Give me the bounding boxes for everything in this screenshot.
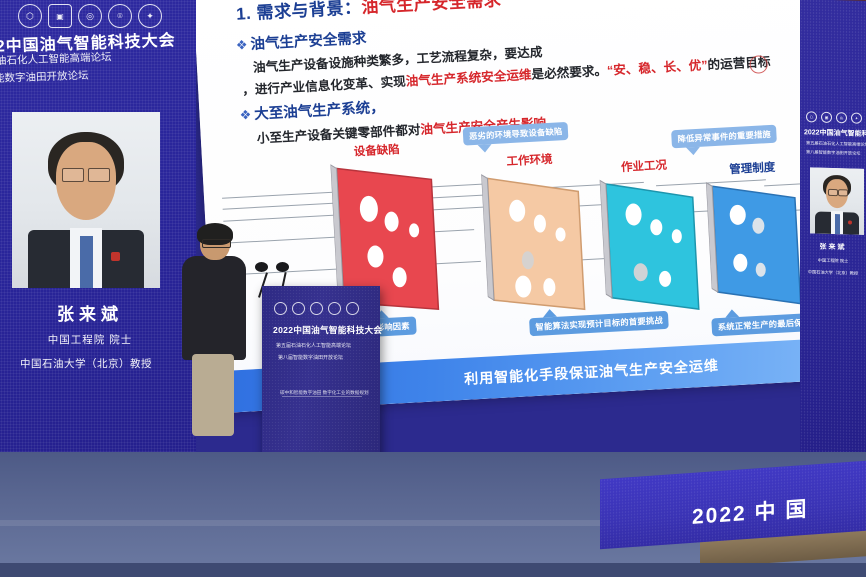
panel-credential-2: 中国石油大学（北京）教授: [0, 356, 184, 371]
barrier-layer-work-environment: [481, 166, 611, 324]
portrait-glasses: [62, 168, 84, 182]
portrait-tie: [80, 236, 93, 288]
barrier-layer-operating-condition: [600, 172, 724, 324]
organizer-logo-icon: ⬡: [806, 111, 817, 122]
speaker-portrait: [12, 112, 160, 288]
podium-divider: [282, 396, 362, 397]
organizer-logo-icon: [346, 302, 359, 315]
slide-title-main: 需求与背景：: [256, 0, 362, 23]
podium-tagline: 碳中和智能数字油田 数字化工业的数据规划: [280, 390, 369, 396]
organizer-logo-icon: ▣: [821, 112, 832, 123]
panel-speaker-name: 张来斌: [800, 241, 866, 253]
barrier-label-work-environment: 工作环境: [506, 151, 553, 169]
panel-speaker-name: 张来斌: [0, 300, 180, 325]
podium-subtitle-1: 第五届石油石化人工智能高端论坛: [276, 342, 351, 349]
panel-logo-row: ⬡ ▣ ◎ ⌾ ✦: [18, 4, 162, 28]
portrait-lapel-pin: [848, 220, 852, 224]
portrait-lapel-pin: [111, 252, 120, 261]
callout-reduce-abnormal-events: 降低异常事件的重要措施: [671, 125, 777, 149]
portrait-tie: [835, 214, 840, 234]
microphone-head: [276, 262, 289, 272]
bullet-diamond-icon: ❖: [235, 37, 247, 53]
barrier-label-operating-condition: 作业工况: [621, 157, 668, 175]
slide-bullet-1: ❖油气生产安全需求: [235, 27, 367, 55]
stage-base-strip: [0, 563, 866, 577]
podium-logo-row: [274, 302, 359, 315]
speaker-portrait-frame: [810, 167, 864, 235]
slide-body-line-2-highlight: 油气生产系统安全运维: [405, 68, 532, 89]
organizer-logo-icon: ⬡: [18, 4, 42, 28]
side-led-panel-right: ⬡ ▣ ◎ ✦ 2022中国油气智能科技大会 第五届石油石化人工智能高端论坛 第…: [800, 0, 866, 471]
portrait-glasses: [88, 168, 110, 182]
slide-bullet-2: ❖大至油气生产系统，: [239, 96, 385, 125]
slide-body-line-2-tail: 是必然要求。: [531, 64, 607, 82]
portrait-glasses: [828, 189, 838, 196]
organizer-logo-icon: ✦: [138, 4, 162, 28]
presenter-legs: [192, 354, 234, 436]
presenter-arm: [184, 286, 200, 344]
slide-title-accent: 油气生产安全需求: [361, 0, 502, 17]
slide-bullet-2-text: 大至油气生产系统，: [254, 100, 385, 123]
slide-title-number: 1.: [236, 4, 252, 24]
podium-conference-title: 2022中国油气智能科技大会: [273, 324, 382, 336]
barrier-label-management-system: 管理制度: [729, 159, 776, 177]
portrait-glasses: [838, 189, 848, 196]
slide-watermark-logo: [749, 55, 768, 74]
presenter-glasses: [202, 239, 231, 248]
organizer-logo-icon: ◎: [836, 112, 847, 123]
slide-banner-text: 利用智能化手段保证油气生产安全运维: [464, 355, 720, 389]
organizer-logo-icon: [274, 302, 287, 315]
slide-bullet-1-text: 油气生产安全需求: [250, 31, 367, 53]
panel-credential-1: 中国工程院 院士: [0, 332, 180, 347]
led-mesh-texture: [800, 0, 866, 471]
speaker-portrait: [810, 167, 864, 235]
presenter-person: [182, 226, 246, 436]
organizer-logo-icon: ✦: [851, 113, 862, 124]
slide-body-quote: “安、稳、长、优”: [607, 58, 708, 77]
podium-subtitle-2: 第八届智能数字油田开放论坛: [278, 354, 343, 361]
microphone-head: [255, 262, 268, 272]
organizer-logo-icon: ◎: [78, 4, 102, 28]
organizer-logo-icon: ▣: [48, 4, 72, 28]
speaker-portrait-frame: [12, 112, 160, 288]
slide-title: 1. 需求与背景：油气生产安全需求: [235, 0, 501, 25]
panel-logo-row: ⬡ ▣ ◎ ✦: [806, 111, 862, 124]
organizer-logo-icon: [310, 302, 323, 315]
organizer-logo-icon: [292, 302, 305, 315]
organizer-logo-icon: ⌾: [108, 4, 132, 28]
bullet-diamond-icon: ❖: [239, 107, 251, 123]
barrier-label-equipment-defect: 设备缺陷: [353, 141, 400, 159]
conference-stage-scene: 1. 需求与背景：油气生产安全需求 ❖油气生产安全需求 油气生产设备设施种类繁多…: [0, 0, 866, 577]
organizer-logo-icon: [328, 302, 341, 315]
side-led-panel-left: ⬡ ▣ ◎ ⌾ ✦ 2022中国油气智能科技大会 第五届石油石化人工智能高端论坛…: [0, 0, 196, 455]
slide-body-line-2-lead: ，进行产业信息化变革、实现: [242, 75, 406, 98]
callout-algorithm-challenge: 智能算法实现预计目标的首要挑战: [529, 311, 669, 337]
